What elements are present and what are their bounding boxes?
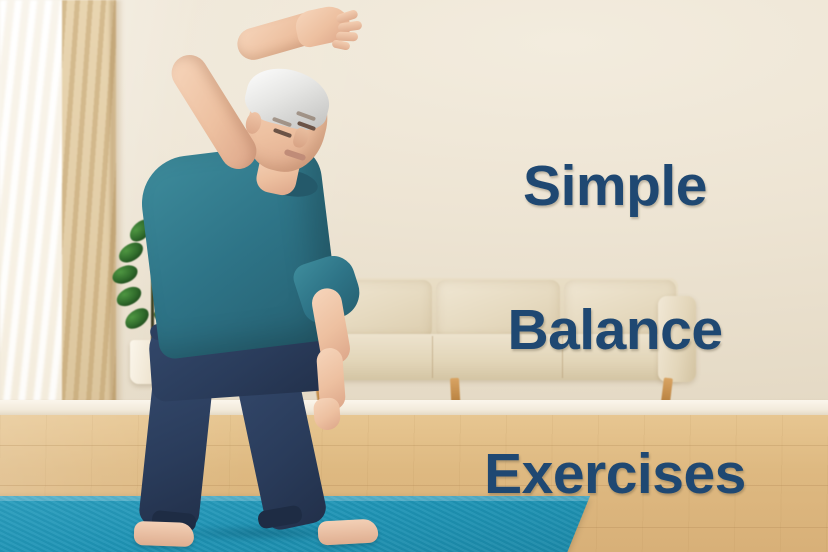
headline: Simple Balance Exercises for Seniors wit… <box>410 78 820 552</box>
hero-image: Simple Balance Exercises for Seniors wit… <box>0 0 828 552</box>
headline-line-2: Balance <box>410 294 820 366</box>
headline-line-1: Simple <box>410 150 820 222</box>
torso-tshirt <box>136 140 341 361</box>
headline-line-3: Exercises <box>410 438 820 510</box>
left-foot <box>134 521 195 547</box>
right-foot <box>317 518 378 545</box>
lowered-hand <box>313 397 341 431</box>
senior-man-stretching <box>0 0 460 552</box>
